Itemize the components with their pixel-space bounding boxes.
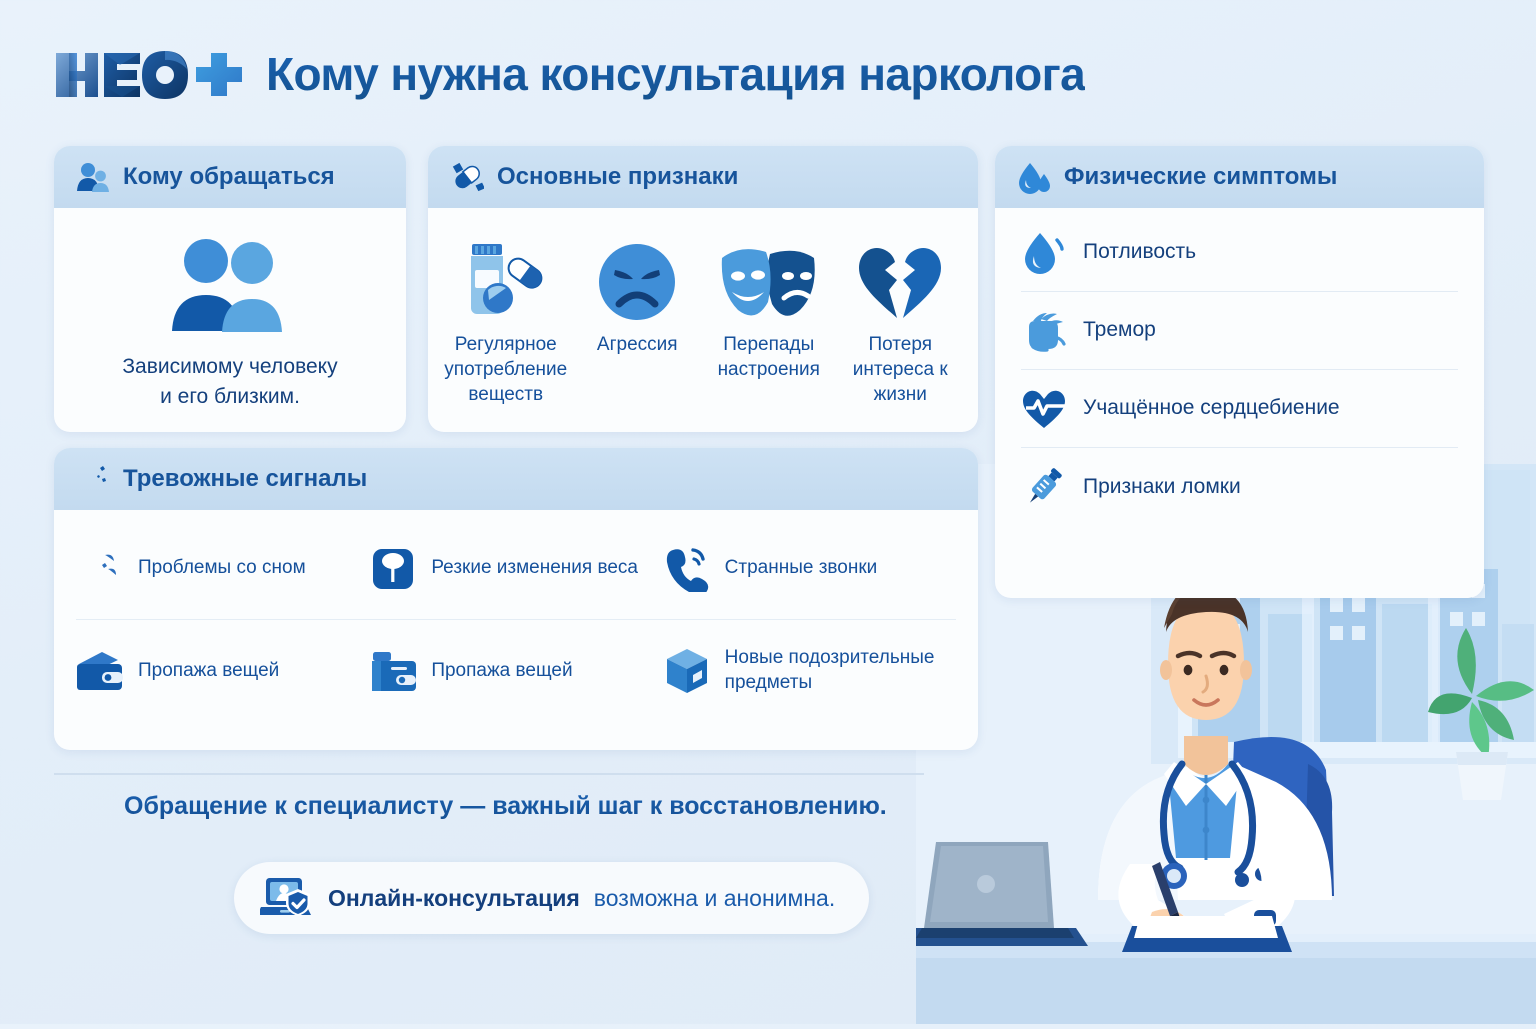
- warning-item: Пропажа вещей: [76, 620, 369, 722]
- sign-item: Регулярное употребление веществ: [442, 226, 570, 407]
- syringe-icon: [1021, 464, 1067, 510]
- two-people-icon: [54, 230, 406, 340]
- sign-label: Потеря интереса к жизни: [837, 332, 965, 407]
- sign-label: Агрессия: [574, 332, 702, 357]
- list-item-label: Учащённое сердцебиение: [1083, 395, 1340, 422]
- trembling-hand-icon: [1021, 309, 1067, 353]
- card-warning-signals: Тревожные сигналы Проблемы со сном: [54, 448, 978, 750]
- list-item: Учащённое сердцебиение: [1021, 370, 1458, 448]
- card-warning-title: Тревожные сигналы: [123, 465, 367, 493]
- card-who-text: Зависимому человеку и его близким.: [54, 352, 406, 412]
- crescent-moon-icon: [76, 462, 110, 496]
- card-who-body: Зависимому человеку и его близким.: [54, 208, 406, 412]
- warning-item: Резкие изменения веса: [369, 518, 662, 620]
- package-box-icon: [663, 647, 711, 695]
- wallet-closed-icon: [369, 650, 417, 692]
- sign-item: Потеря интереса к жизни: [837, 226, 965, 407]
- card-who-to-contact: Кому обращаться Зависимому человеку и ег…: [54, 146, 406, 432]
- warning-label: Пропажа вещей: [138, 659, 279, 684]
- phone-call-icon: [663, 546, 711, 592]
- heart-pulse-icon: [1021, 388, 1067, 430]
- online-consultation-badge[interactable]: Онлайн-консультация возможна и анонимна.: [234, 862, 869, 934]
- badge-strong-text: Онлайн-консультация: [328, 885, 580, 912]
- angry-face-icon: [574, 226, 702, 322]
- list-item: Потливость: [1021, 214, 1458, 292]
- card-who-header: Кому обращаться: [54, 146, 406, 208]
- droplet-icon: [1021, 230, 1067, 276]
- warning-label: Странные звонки: [725, 556, 878, 581]
- sign-label: Перепады настроения: [705, 332, 833, 382]
- warning-signals-grid: Проблемы со сном Резкие изменения веса: [54, 510, 978, 722]
- pills-icon: [450, 160, 484, 194]
- wallet-open-icon: [76, 650, 124, 692]
- who-line-2: и его близким.: [54, 382, 406, 412]
- broken-heart-icon: [837, 226, 965, 322]
- warning-item: Странные звонки: [663, 518, 956, 620]
- water-drops-icon: [1017, 160, 1051, 194]
- sign-item: Агрессия: [574, 226, 702, 407]
- who-line-1: Зависимому человеку: [54, 352, 406, 382]
- warning-item: Новые подозрительные предметы: [663, 620, 956, 722]
- physical-symptom-list: Потливость Тремор: [995, 208, 1484, 526]
- page-title: Кому нужна консультация нарколога: [266, 47, 1085, 101]
- badge-rest-text: возможна и анонимна.: [594, 885, 835, 912]
- pill-bottle-icon: [442, 226, 570, 322]
- warning-label: Резкие изменения веса: [431, 556, 638, 581]
- list-item-label: Признаки ломки: [1083, 474, 1241, 501]
- warning-label: Проблемы со сном: [138, 556, 306, 581]
- card-signs-header: Основные признаки: [428, 146, 978, 208]
- list-item: Тремор: [1021, 292, 1458, 370]
- card-main-signs: Основные признаки Регулярное употреб: [428, 146, 978, 432]
- laptop-verified-icon: [260, 875, 314, 921]
- footer-divider: [54, 773, 924, 775]
- list-item-label: Тремор: [1083, 317, 1156, 344]
- warning-label: Пропажа вещей: [431, 659, 572, 684]
- warning-label: Новые подозрительные предметы: [725, 646, 944, 695]
- card-signs-title: Основные признаки: [497, 163, 738, 191]
- footer-message: Обращение к специалисту — важный шаг к в…: [124, 792, 887, 821]
- sign-label: Регулярное употребление веществ: [442, 332, 570, 407]
- card-warning-header: Тревожные сигналы: [54, 448, 978, 510]
- page-header: Кому нужна консультация нарколога: [54, 38, 1085, 110]
- neo-plus-logo: [54, 45, 250, 103]
- people-icon: [76, 160, 110, 194]
- card-physical-header: Физические симптомы: [995, 146, 1484, 208]
- list-item-label: Потливость: [1083, 239, 1196, 266]
- card-who-title: Кому обращаться: [123, 163, 335, 191]
- sign-item: Перепады настроения: [705, 226, 833, 407]
- card-physical-title: Физические симптомы: [1064, 163, 1337, 191]
- moon-sleep-icon: [76, 545, 124, 593]
- weight-scale-icon: [369, 546, 417, 592]
- theater-masks-icon: [705, 226, 833, 322]
- warning-item: Пропажа вещей: [369, 620, 662, 722]
- list-item: Признаки ломки: [1021, 448, 1458, 526]
- card-physical-symptoms: Физические симптомы Потливость: [995, 146, 1484, 598]
- warning-item: Проблемы со сном: [76, 518, 369, 620]
- signs-grid: Регулярное употребление веществ Агрессия: [428, 208, 978, 407]
